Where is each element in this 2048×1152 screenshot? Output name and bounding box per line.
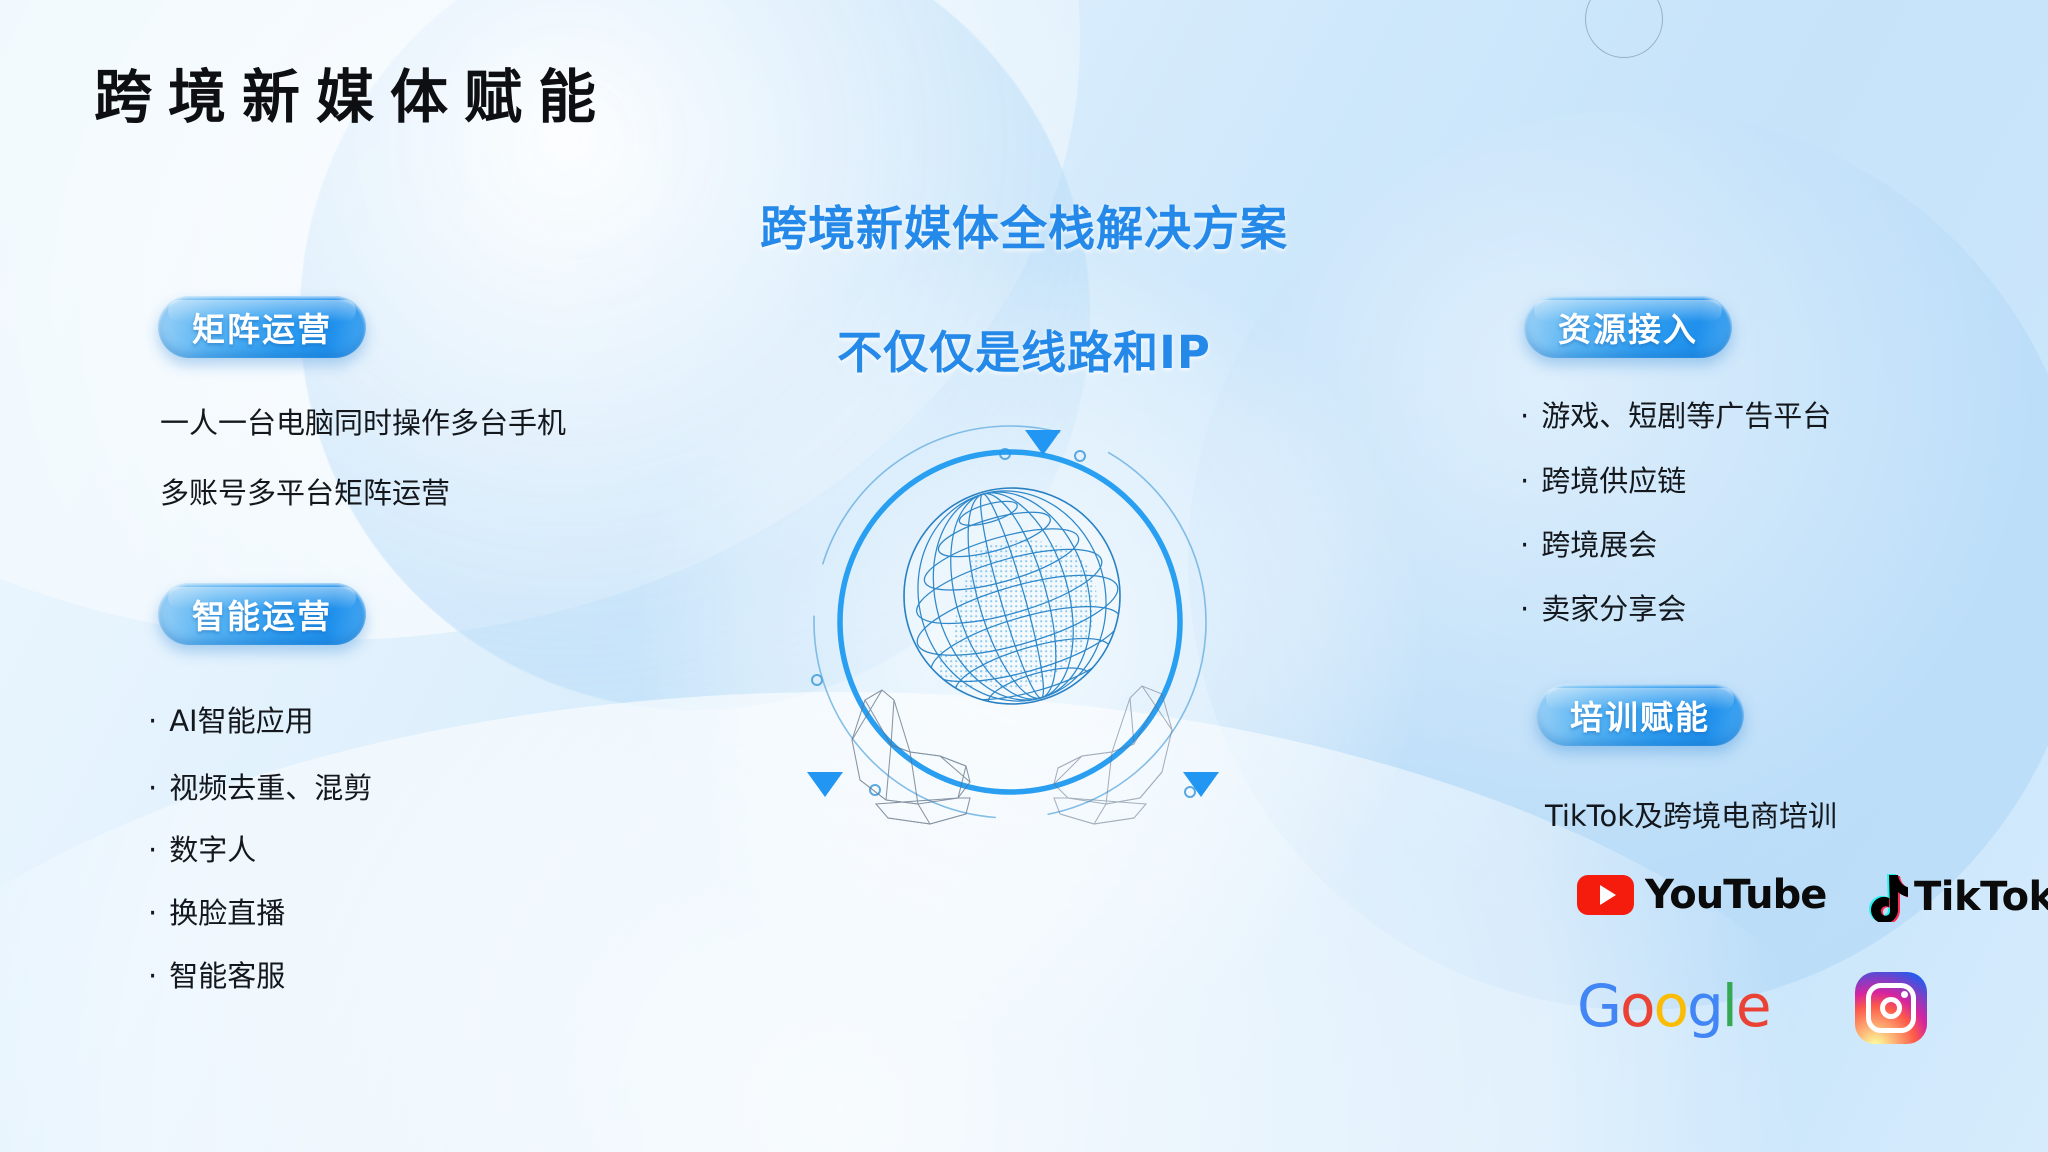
google-letter: G <box>1577 972 1620 1040</box>
page-title: 跨境新媒体赋能 <box>94 50 612 134</box>
pill-label: 智能运营 <box>192 590 332 638</box>
list-item-label: 视频去重、混剪 <box>169 771 372 805</box>
pill-training-empowerment[interactable]: 培训赋能 <box>1536 684 1744 746</box>
marker-triangle-left <box>807 772 843 797</box>
tiktok-wordmark: TikTok <box>1914 874 2048 920</box>
youtube-wordmark: YouTube <box>1645 872 1826 918</box>
youtube-logo[interactable]: YouTube <box>1577 872 1826 918</box>
list-item-label: 数字人 <box>169 833 256 867</box>
list-item-label: 跨境展会 <box>1541 528 1657 562</box>
google-letter: g <box>1687 972 1722 1040</box>
marker-triangle-right <box>1183 772 1219 797</box>
list-item-label: 智能客服 <box>169 959 285 993</box>
list-item: ·跨境展会 <box>1520 522 1657 564</box>
instagram-camera-icon <box>1855 972 1927 1044</box>
list-item-label: 游戏、短剧等广告平台 <box>1541 399 1831 433</box>
google-letter: o <box>1620 972 1654 1040</box>
left-text-line-1: 一人一台电脑同时操作多台手机 <box>160 400 566 442</box>
pill-label: 培训赋能 <box>1570 691 1710 739</box>
list-item-label: AI智能应用 <box>169 704 313 738</box>
bullet-dot: · <box>1520 464 1529 498</box>
right-text-line-1: TikTok及跨境电商培训 <box>1545 793 1837 835</box>
list-item: ·换脸直播 <box>148 890 285 932</box>
bullet-dot: · <box>1520 528 1529 562</box>
list-item: ·卖家分享会 <box>1520 586 1686 628</box>
list-item: ·AI智能应用 <box>148 698 314 740</box>
list-item-label: 卖家分享会 <box>1541 592 1686 626</box>
google-letter: e <box>1736 972 1770 1040</box>
globe-illustration <box>790 400 1230 840</box>
google-logo[interactable]: Google <box>1577 972 1770 1040</box>
center-headline-primary: 跨境新媒体全栈解决方案 <box>674 190 1374 259</box>
pill-matrix-operations[interactable]: 矩阵运营 <box>158 296 366 358</box>
google-letter: l <box>1722 972 1736 1040</box>
slide-canvas: 跨境新媒体赋能 跨境新媒体全栈解决方案 不仅仅是线路和IP <box>0 0 2048 1152</box>
bullet-dot: · <box>148 704 157 738</box>
list-item: ·跨境供应链 <box>1520 458 1686 500</box>
globe-svg <box>790 400 1230 840</box>
hand-left <box>852 690 970 824</box>
list-item: ·视频去重、混剪 <box>148 765 372 807</box>
bullet-dot: · <box>1520 399 1529 433</box>
decorative-ring-icon <box>1585 0 1663 58</box>
instagram-logo[interactable] <box>1855 972 1927 1044</box>
list-item: ·数字人 <box>148 827 256 869</box>
bullet-dot: · <box>1520 592 1529 626</box>
bullet-dot: · <box>148 896 157 930</box>
left-text-line-2: 多账号多平台矩阵运营 <box>160 470 450 512</box>
wireframe-sphere <box>886 468 1143 731</box>
bullet-dot: · <box>148 959 157 993</box>
pill-label: 矩阵运营 <box>192 303 332 351</box>
list-item-label: 跨境供应链 <box>1541 464 1686 498</box>
pill-smart-operations[interactable]: 智能运营 <box>158 583 366 645</box>
list-item: ·游戏、短剧等广告平台 <box>1520 393 1831 435</box>
bullet-dot: · <box>148 771 157 805</box>
google-wordmark: Google <box>1577 972 1770 1040</box>
pill-resource-access[interactable]: 资源接入 <box>1524 296 1732 358</box>
google-letter: o <box>1653 972 1687 1040</box>
tiktok-note-icon <box>1862 872 1908 922</box>
youtube-play-icon <box>1577 875 1634 915</box>
list-item: ·智能客服 <box>148 953 285 995</box>
pill-label: 资源接入 <box>1558 303 1698 351</box>
tiktok-logo[interactable]: TikTok <box>1862 872 2048 922</box>
list-item-label: 换脸直播 <box>169 896 285 930</box>
center-headline-secondary: 不仅仅是线路和IP <box>674 316 1374 381</box>
bullet-dot: · <box>148 833 157 867</box>
